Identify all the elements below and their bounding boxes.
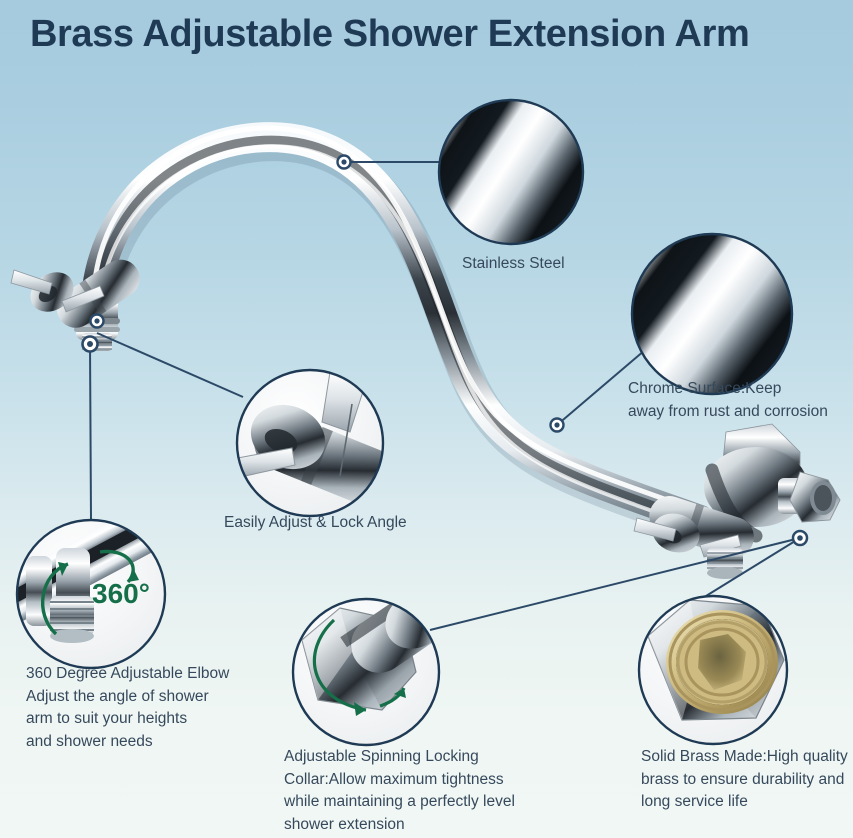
label-360-degree-adjustable-elbow: 360 Degree Adjustable Elbow Adjust the a… [26,663,229,753]
label-easily-adjust-lock-angle: Easily Adjust & Lock Angle [224,512,407,535]
left-elbow-assembly [11,252,147,351]
shower-arm-tube [93,128,704,529]
label-adjustable-spinning-locking-collar: Adjustable Spinning Locking Collar:Allow… [284,746,515,836]
detail-bubble-360-elbow [0,474,224,668]
detail-bubble-solid-brass [639,596,787,744]
right-head-assembly [634,424,840,579]
label-solid-brass-made: Solid Brass Made:High quality brass to e… [641,746,848,814]
detail-bubble-lock-angle [232,370,406,516]
product-infographic: Brass Adjustable Shower Extension Arm [0,0,853,838]
label-chrome-surface: Chrome Surface:Keep away from rust and c… [628,378,828,423]
label-stainless-steel: Stainless Steel [462,253,565,276]
detail-bubble-locking-collar [293,565,479,745]
detail-bubble-stainless-steel [415,73,617,275]
